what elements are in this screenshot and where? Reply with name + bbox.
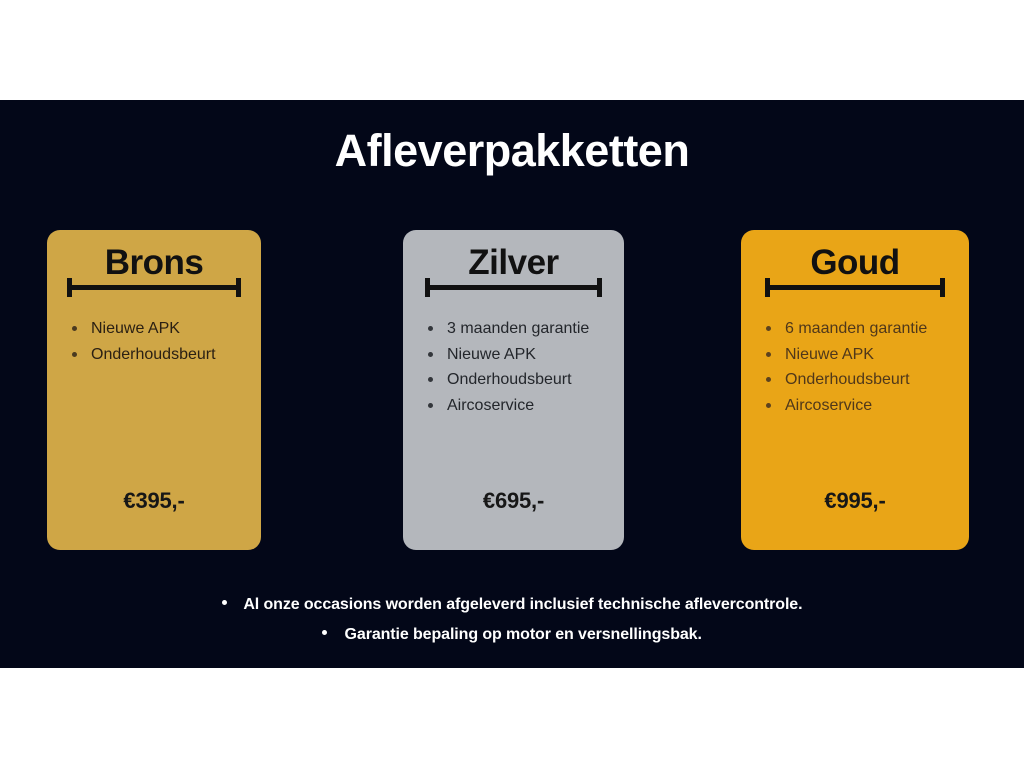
feature-label: Onderhoudsbeurt bbox=[447, 371, 572, 388]
bullet-dot-icon bbox=[428, 377, 433, 382]
ibeam-right-cap-icon bbox=[597, 278, 602, 297]
bullet-dot-icon bbox=[766, 326, 771, 331]
list-item: Onderhoudsbeurt bbox=[419, 367, 614, 393]
bullet-dot-icon bbox=[322, 630, 327, 635]
feature-label: Onderhoudsbeurt bbox=[91, 346, 216, 363]
feature-label: Nieuwe APK bbox=[447, 346, 536, 363]
promo-banner-screenshot: Afleverpakketten Brons Nieuwe APK Onderh… bbox=[0, 0, 1024, 768]
feature-list-zilver: 3 maanden garantie Nieuwe APK Onderhouds… bbox=[419, 316, 614, 418]
ibeam-bar-icon bbox=[67, 285, 241, 290]
ibeam-right-cap-icon bbox=[940, 278, 945, 297]
package-title-goud: Goud bbox=[741, 245, 969, 280]
ibeam-right-cap-icon bbox=[236, 278, 241, 297]
package-card-brons[interactable]: Brons Nieuwe APK Onderhoudsbeurt €395,- bbox=[47, 230, 261, 550]
list-item: Aircoservice bbox=[757, 393, 959, 419]
bullet-dot-icon bbox=[428, 326, 433, 331]
feature-list-brons: Nieuwe APK Onderhoudsbeurt bbox=[63, 316, 251, 367]
bullet-dot-icon bbox=[222, 600, 227, 605]
feature-label: Onderhoudsbeurt bbox=[785, 371, 910, 388]
bullet-dot-icon bbox=[72, 326, 77, 331]
footer-notes: Al onze occasions worden afgeleverd incl… bbox=[0, 590, 1024, 650]
bullet-dot-icon bbox=[428, 403, 433, 408]
list-item: 3 maanden garantie bbox=[419, 316, 614, 342]
package-card-goud[interactable]: Goud 6 maanden garantie Nieuwe APK Onder… bbox=[741, 230, 969, 550]
ibeam-bar-icon bbox=[765, 285, 945, 290]
bullet-dot-icon bbox=[766, 377, 771, 382]
bullet-dot-icon bbox=[428, 352, 433, 357]
bullet-dot-icon bbox=[766, 352, 771, 357]
feature-label: Nieuwe APK bbox=[91, 320, 180, 337]
list-item: Onderhoudsbeurt bbox=[63, 342, 251, 368]
page-title: Afleverpakketten bbox=[0, 128, 1024, 173]
package-title-zilver: Zilver bbox=[403, 245, 624, 280]
package-price-zilver: €695,- bbox=[403, 488, 624, 514]
list-item: Garantie bepaling op motor en versnellin… bbox=[0, 620, 1024, 650]
list-item: Nieuwe APK bbox=[419, 342, 614, 368]
package-card-zilver[interactable]: Zilver 3 maanden garantie Nieuwe APK Ond… bbox=[403, 230, 624, 550]
feature-label: 6 maanden garantie bbox=[785, 320, 927, 337]
list-item: Onderhoudsbeurt bbox=[757, 367, 959, 393]
feature-label: Nieuwe APK bbox=[785, 346, 874, 363]
feature-label: 3 maanden garantie bbox=[447, 320, 589, 337]
bullet-dot-icon bbox=[766, 403, 771, 408]
package-price-brons: €395,- bbox=[47, 488, 261, 514]
list-item: Aircoservice bbox=[419, 393, 614, 419]
bullet-dot-icon bbox=[72, 352, 77, 357]
list-item: Nieuwe APK bbox=[757, 342, 959, 368]
package-title-brons: Brons bbox=[47, 245, 261, 280]
package-price-goud: €995,- bbox=[741, 488, 969, 514]
list-item: 6 maanden garantie bbox=[757, 316, 959, 342]
feature-label: Aircoservice bbox=[447, 397, 534, 414]
list-item: Nieuwe APK bbox=[63, 316, 251, 342]
feature-list-goud: 6 maanden garantie Nieuwe APK Onderhouds… bbox=[757, 316, 959, 418]
list-item: Al onze occasions worden afgeleverd incl… bbox=[0, 590, 1024, 620]
footer-note-label: Garantie bepaling op motor en versnellin… bbox=[345, 626, 702, 643]
feature-label: Aircoservice bbox=[785, 397, 872, 414]
footer-note-label: Al onze occasions worden afgeleverd incl… bbox=[243, 596, 802, 613]
ibeam-bar-icon bbox=[425, 285, 602, 290]
